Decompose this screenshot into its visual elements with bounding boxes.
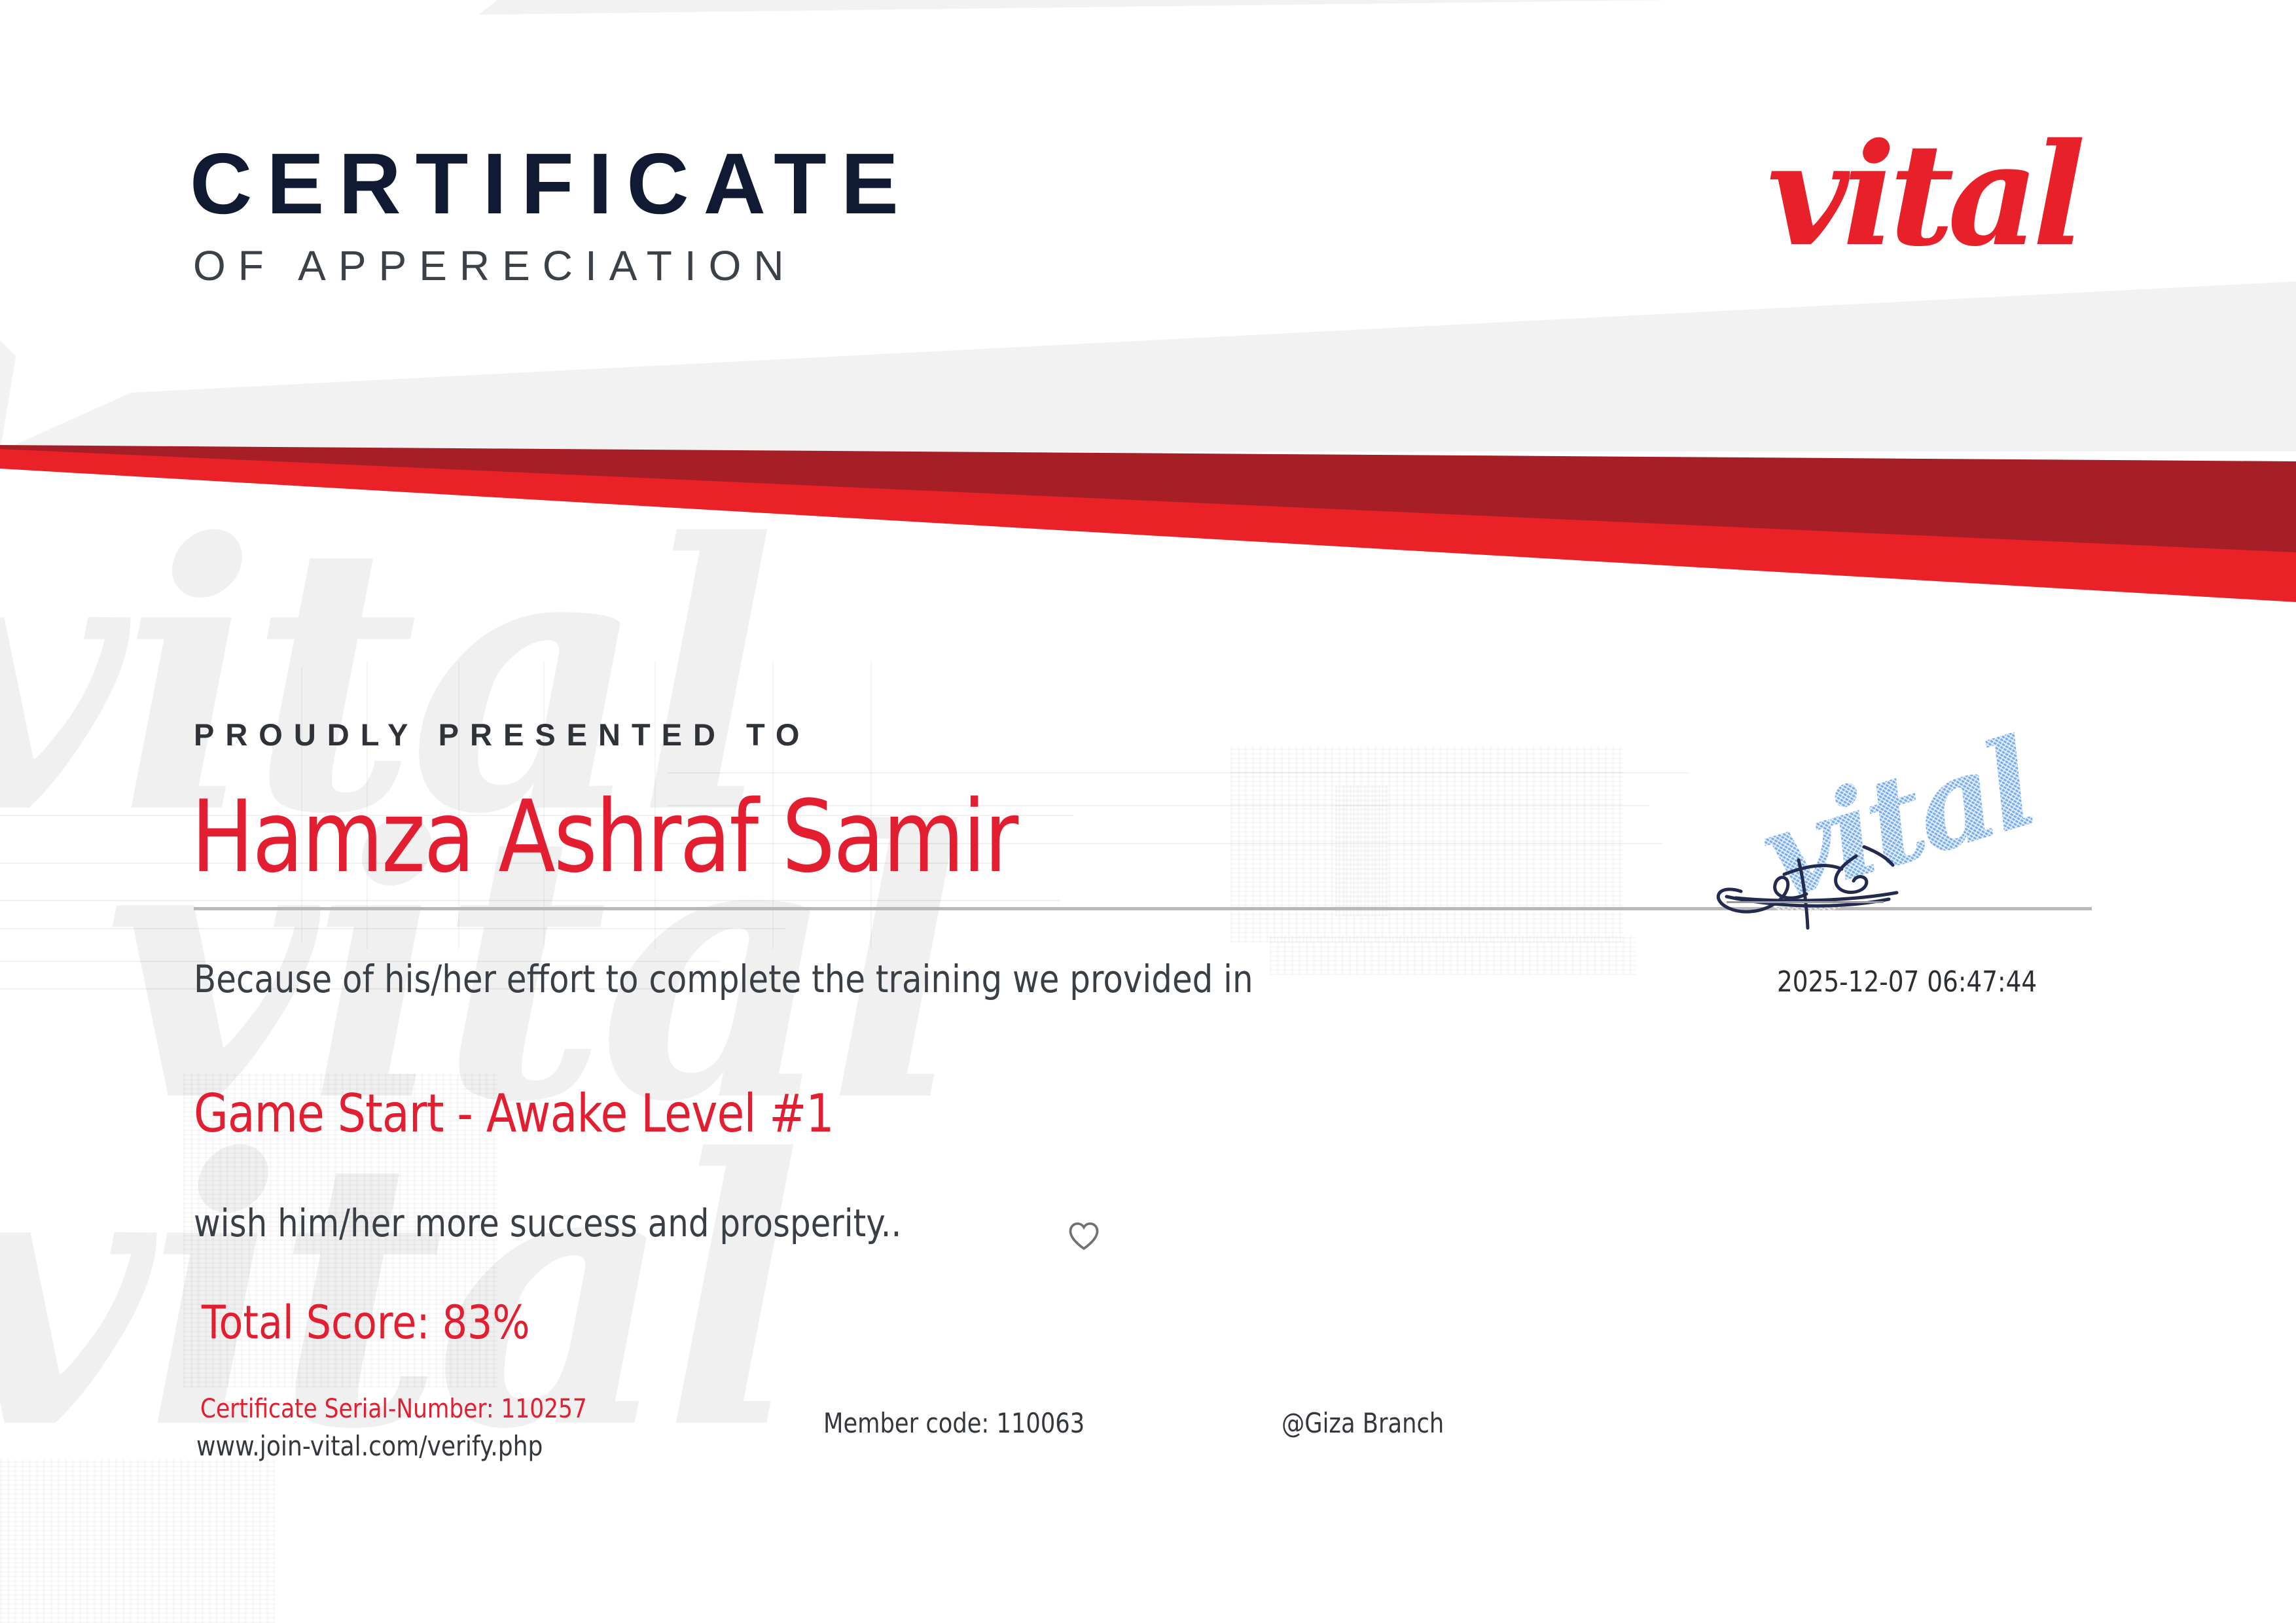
reason-text: Because of his/her effort to complete th… [194, 957, 1253, 1001]
page-subtitle: OF APPERECIATION [193, 241, 913, 290]
certificate-serial-number: Certificate Serial-Number: 110257 [200, 1394, 587, 1424]
branch-label: @Giza Branch [1282, 1407, 1444, 1439]
heart-outline-icon [1066, 1217, 1102, 1254]
stamp-and-signature-group: vital 2025-12-07 06:47:44 [1702, 740, 2160, 1001]
recipient-name: Hamza Ashraf Samir [191, 779, 1017, 895]
total-score: Total Score: 83% [202, 1296, 530, 1349]
signature-rule [1727, 901, 1884, 903]
presented-to-label: PROUDLY PRESENTED TO [194, 717, 810, 753]
vital-logo: vital [1767, 124, 2079, 265]
course-title: Game Start - Awake Level #1 [194, 1083, 834, 1144]
stamp-timestamp: 2025-12-07 06:47:44 [1777, 965, 2037, 999]
verify-url-link[interactable]: www.join-vital.com/verify.php [196, 1430, 543, 1462]
handwritten-signature-icon [1702, 779, 2016, 952]
certificate-body: PROUDLY PRESENTED TO Hamza Ashraf Samir … [0, 452, 2296, 1623]
certificate-title-block: CERTIFICATE OF APPERECIATION [190, 141, 913, 290]
member-code: Member code: 110063 [823, 1407, 1085, 1439]
wish-text: wish him/her more success and prosperity… [194, 1201, 901, 1245]
page-title: CERTIFICATE [190, 141, 913, 227]
